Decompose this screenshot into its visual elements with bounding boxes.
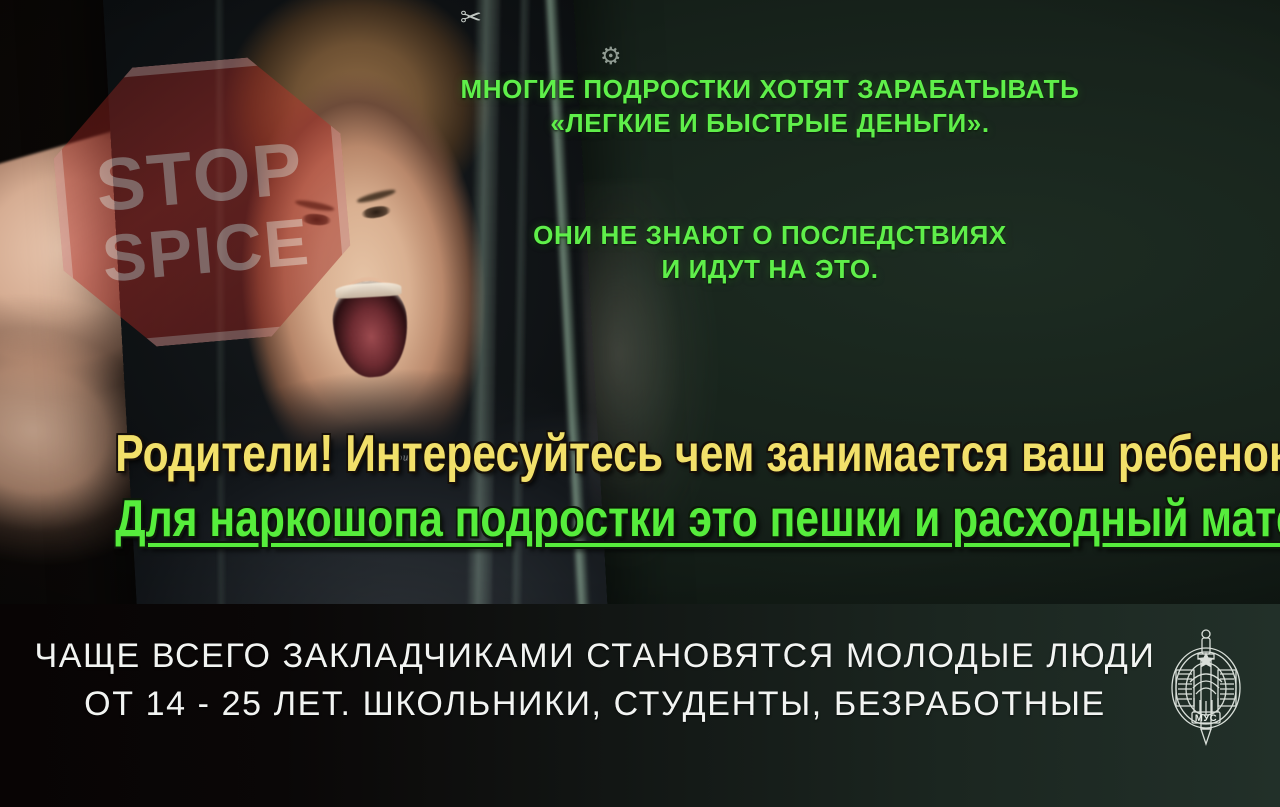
headline-green-line-3: ОНИ НЕ ЗНАЮТ О ПОСЛЕДСТВИЯХ	[400, 218, 1140, 252]
headline-green-line-4: И ИДУТ НА ЭТО.	[400, 252, 1140, 286]
bottom-bar: ЧАЩЕ ВСЕГО ЗАКЛАДЧИКАМИ СТАНОВЯТСЯ МОЛОД…	[0, 604, 1280, 807]
headline-green-block-1: МНОГИЕ ПОДРОСТКИ ХОТЯТ ЗАРАБАТЫВАТЬ «ЛЕГ…	[400, 72, 1140, 141]
slogan-drugshop-green: Для наркошопа подростки это пешки и расх…	[115, 489, 1165, 549]
mvd-emblem-icon: МУС	[1160, 626, 1252, 748]
bottom-statement: ЧАЩЕ ВСЕГО ЗАКЛАДЧИКАМИ СТАНОВЯТСЯ МОЛОД…	[20, 632, 1170, 729]
headline-green-block-2: ОНИ НЕ ЗНАЮТ О ПОСЛЕДСТВИЯХ И ИДУТ НА ЭТ…	[400, 218, 1140, 287]
stop-spice-watermark: STOP SPICE	[46, 50, 357, 354]
bottom-line-2: ОТ 14 - 25 ЛЕТ. ШКОЛЬНИКИ, СТУДЕНТЫ, БЕЗ…	[20, 680, 1170, 728]
poster-root: Vibuc STOP SPICE ✂ ⚙ МНОГИЕ ПОДРОСТКИ ХО…	[0, 0, 1280, 807]
headline-green-line-1: МНОГИЕ ПОДРОСТКИ ХОТЯТ ЗАРАБАТЫВАТЬ	[400, 72, 1140, 106]
slogan-parents-yellow: Родители! Интересуйтесь чем занимается в…	[115, 424, 1165, 484]
emblem-label-text: МУС	[1195, 713, 1217, 724]
bottom-line-1: ЧАЩЕ ВСЕГО ЗАКЛАДЧИКАМИ СТАНОВЯТСЯ МОЛОД…	[20, 632, 1170, 680]
headline-green-line-2: «ЛЕГКИЕ И БЫСТРЫЕ ДЕНЬГИ».	[400, 106, 1140, 140]
